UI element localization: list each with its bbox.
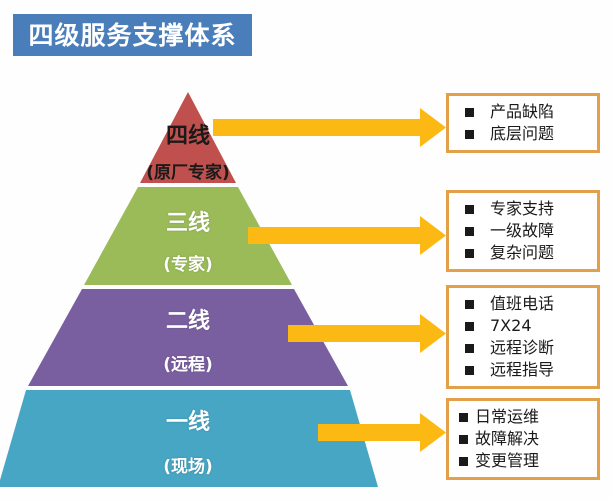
tier-1-main-label: 一线 — [128, 404, 248, 436]
list-item-label: 远程诊断 — [490, 337, 554, 359]
tier-4-sub-label: (原厂专家) — [118, 158, 258, 183]
list-item: 底层问题 — [457, 123, 589, 145]
tier-2-main-label: 二线 — [128, 303, 248, 335]
square-bullet-icon — [465, 322, 474, 331]
square-bullet-icon — [465, 108, 474, 117]
list-item-label: 远程指导 — [490, 359, 554, 381]
list-item-label: 底层问题 — [490, 123, 554, 145]
list-item-label: 变更管理 — [475, 450, 539, 472]
title-banner: 四级服务支撑体系 — [13, 14, 252, 56]
square-bullet-icon — [465, 130, 474, 139]
list-item-label: 专家支持 — [490, 198, 554, 220]
tier-4-main-label: 四线 — [128, 118, 248, 150]
list-item-label: 7X24 — [490, 315, 532, 337]
square-bullet-icon — [465, 344, 474, 353]
list-item: 日常运维 — [457, 406, 589, 428]
list-item: 变更管理 — [457, 450, 589, 472]
tier-1-sub-label: (现场) — [118, 452, 258, 477]
callout-box-tier-3: 专家支持 一级故障 复杂问题 — [446, 190, 600, 272]
callout-box-tier-2: 值班电话 7X24 远程诊断 远程指导 — [446, 285, 600, 389]
list-item-label: 值班电话 — [490, 293, 554, 315]
list-item: 故障解决 — [457, 428, 589, 450]
list-item: 远程诊断 — [457, 337, 589, 359]
callout-box-tier-4: 产品缺陷 底层问题 — [446, 93, 600, 153]
list-item: 专家支持 — [457, 198, 589, 220]
tier-3-main-label: 三线 — [128, 205, 248, 237]
square-bullet-icon — [459, 413, 468, 422]
list-item: 远程指导 — [457, 359, 589, 381]
list-item-label: 复杂问题 — [490, 242, 554, 264]
callout-box-tier-1: 日常运维 故障解决 变更管理 — [446, 398, 600, 480]
list-item: 7X24 — [457, 315, 589, 337]
list-item: 产品缺陷 — [457, 101, 589, 123]
square-bullet-icon — [465, 300, 474, 309]
square-bullet-icon — [465, 249, 474, 258]
square-bullet-icon — [465, 227, 474, 236]
list-item-label: 产品缺陷 — [490, 101, 554, 123]
arrow-tier-1 — [318, 413, 446, 452]
slide-canvas: 四级服务支撑体系 四线 ( — [0, 0, 612, 500]
square-bullet-icon — [459, 435, 468, 444]
square-bullet-icon — [465, 366, 474, 375]
list-item-label: 日常运维 — [475, 406, 539, 428]
square-bullet-icon — [459, 457, 468, 466]
tier-3-sub-label: (专家) — [118, 250, 258, 275]
list-item: 值班电话 — [457, 293, 589, 315]
list-item-label: 故障解决 — [475, 428, 539, 450]
list-item-label: 一级故障 — [490, 220, 554, 242]
square-bullet-icon — [465, 205, 474, 214]
list-item: 一级故障 — [457, 220, 589, 242]
page-title: 四级服务支撑体系 — [28, 23, 236, 48]
tier-2-sub-label: (远程) — [118, 350, 258, 375]
arrow-tier-2 — [288, 314, 446, 353]
arrow-tier-3 — [248, 216, 446, 255]
list-item: 复杂问题 — [457, 242, 589, 264]
